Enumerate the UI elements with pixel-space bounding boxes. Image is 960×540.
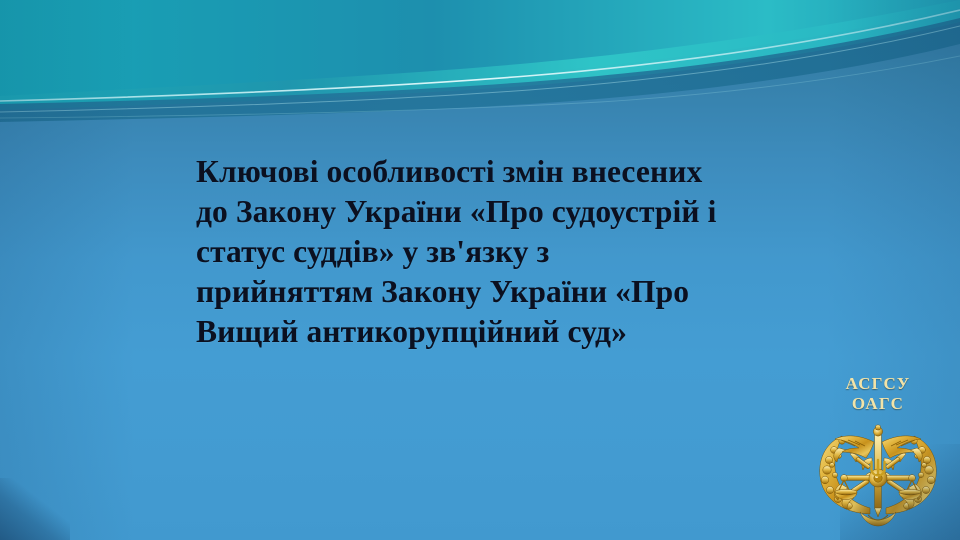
presentation-slide: Ключові особливості змін внесених до Зак… xyxy=(0,0,960,540)
slide-title: Ключові особливості змін внесених до Зак… xyxy=(196,152,796,352)
title-line-5: Вищий антикорупційний суд» xyxy=(196,312,796,352)
title-line-3: статус суддів» у зв'язку з xyxy=(196,232,796,272)
logo-acronym-line-1: АСГСУ xyxy=(808,374,948,394)
title-line-2: до Закону України «Про судоустрій і xyxy=(196,192,796,232)
title-line-4: прийняттям Закону України «Про xyxy=(196,272,796,312)
organization-logo: АСГСУ ОАГС xyxy=(808,374,948,534)
background-wave-decoration xyxy=(0,0,960,140)
logo-acronym-line-2: ОАГС xyxy=(808,394,948,414)
corner-shadow-bottom-left xyxy=(0,478,70,540)
title-line-1: Ключові особливості змін внесених xyxy=(196,152,796,192)
wreath-scales-caduceus-icon xyxy=(808,418,948,530)
